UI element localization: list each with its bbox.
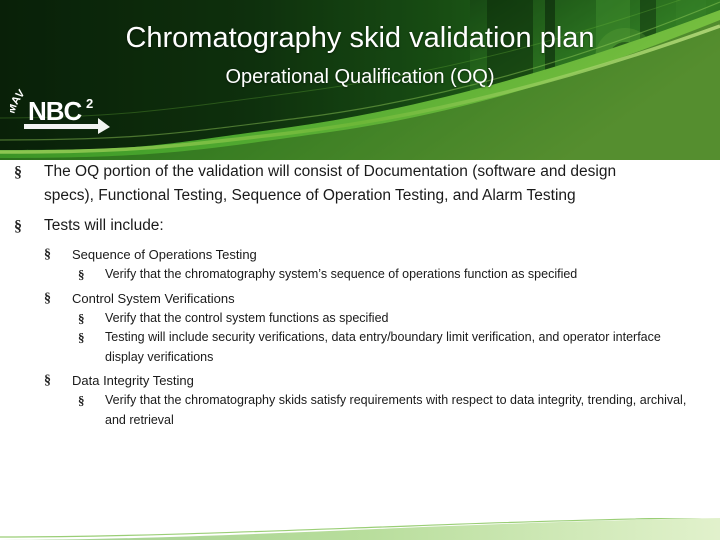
bullet-level2: § Sequence of Operations Testing bbox=[0, 244, 692, 265]
bullet-text: Verify that the control system functions… bbox=[105, 311, 388, 325]
bullet-glyph: § bbox=[78, 309, 85, 329]
slide-footer bbox=[0, 518, 720, 540]
bullet-level2: § Control System Verifications bbox=[0, 288, 692, 309]
svg-text:MAV: MAV bbox=[10, 87, 28, 115]
bullet-level1: § The OQ portion of the validation will … bbox=[0, 160, 660, 208]
bullet-glyph: § bbox=[14, 215, 22, 239]
bullet-text: Testing will include security verificati… bbox=[105, 330, 661, 364]
bullet-text: Verify that the chromatography system’s … bbox=[105, 267, 577, 281]
bullet-level1: § Tests will include: bbox=[0, 214, 660, 238]
bullet-level3: § Testing will include security verifica… bbox=[0, 328, 700, 367]
bullet-level3: § Verify that the chromatography skids s… bbox=[0, 391, 700, 430]
slide-header: MAV NBC 2 Chromatography skid validation… bbox=[0, 0, 720, 160]
page-subtitle: Operational Qualification (OQ) bbox=[0, 66, 720, 89]
bullet-glyph: § bbox=[14, 161, 22, 185]
bullet-glyph: § bbox=[44, 288, 51, 309]
bullet-level3: § Verify that the chromatography system’… bbox=[0, 265, 700, 285]
bullet-level2: § Data Integrity Testing bbox=[0, 370, 692, 391]
page-title: Chromatography skid validation plan bbox=[0, 22, 720, 55]
bullet-text: The OQ portion of the validation will co… bbox=[44, 160, 660, 208]
svg-text:2: 2 bbox=[86, 96, 93, 111]
bullet-glyph: § bbox=[44, 370, 51, 391]
slide: MAV NBC 2 Chromatography skid validation… bbox=[0, 0, 720, 540]
bullet-level3: § Verify that the control system functio… bbox=[0, 309, 700, 329]
bullet-text: Sequence of Operations Testing bbox=[72, 247, 257, 262]
bullet-glyph: § bbox=[44, 244, 51, 265]
bullet-text: Verify that the chromatography skids sat… bbox=[105, 393, 686, 427]
svg-text:NBC: NBC bbox=[28, 96, 83, 126]
bullet-text: Tests will include: bbox=[44, 214, 660, 238]
bullet-glyph: § bbox=[78, 328, 85, 348]
bullet-text: Data Integrity Testing bbox=[72, 373, 194, 388]
bullet-glyph: § bbox=[78, 391, 85, 411]
bullet-glyph: § bbox=[78, 265, 85, 285]
slide-content: § The OQ portion of the validation will … bbox=[0, 160, 720, 520]
bullet-text: Control System Verifications bbox=[72, 291, 235, 306]
footer-swoosh-graphic bbox=[0, 518, 720, 540]
